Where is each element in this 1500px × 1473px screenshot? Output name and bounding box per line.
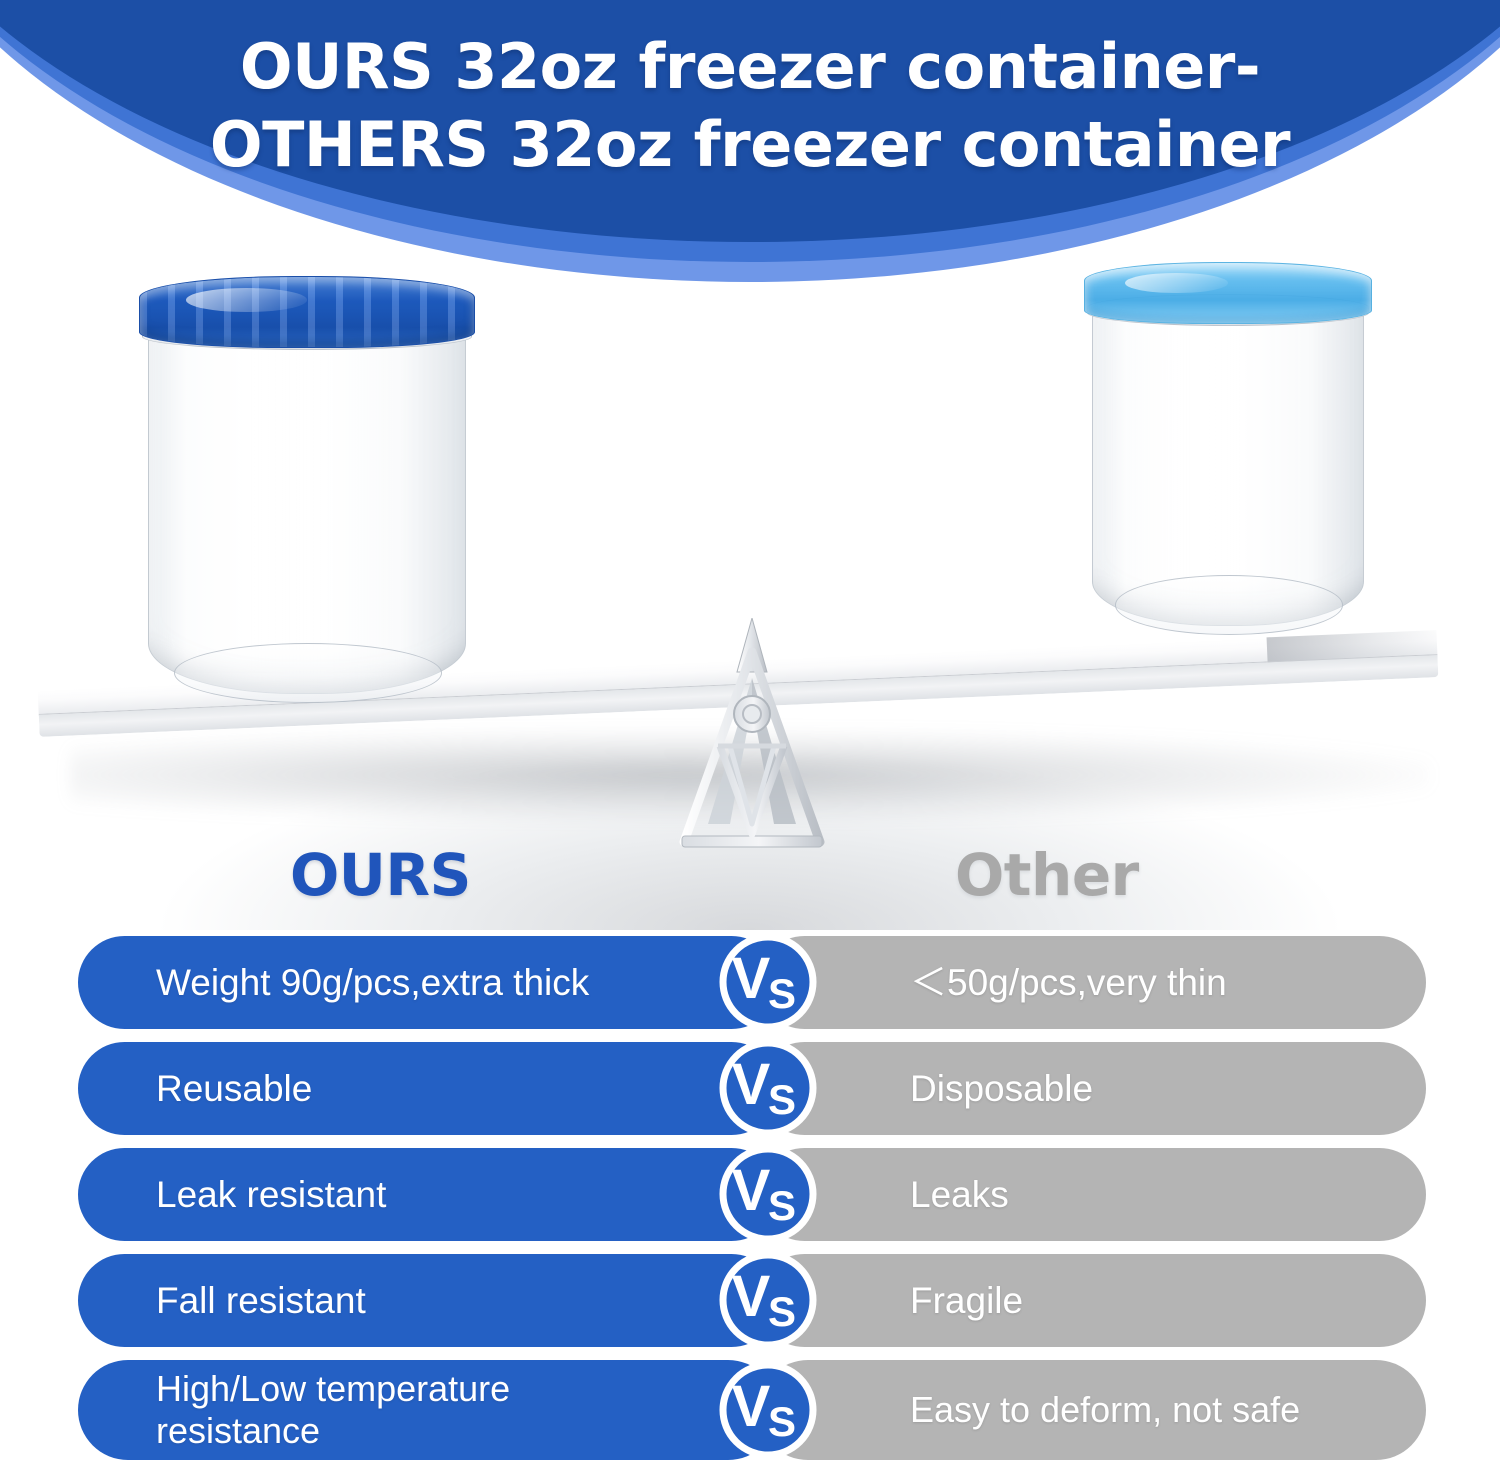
- other-container-base: [1115, 575, 1344, 635]
- column-heading-other: Other: [955, 844, 1139, 906]
- row-ours-text: Fall resistant: [156, 1279, 366, 1323]
- row-ours-text: Leak resistant: [156, 1173, 386, 1217]
- row-ours-text: Reusable: [156, 1067, 312, 1111]
- ours-container-base: [174, 643, 441, 703]
- svg-text:S: S: [768, 970, 796, 1017]
- row-other-pill[interactable]: Leaks: [758, 1148, 1426, 1241]
- table-row: Fall resistant Fragile V S: [0, 1254, 1500, 1347]
- vs-icon: V S: [718, 1038, 818, 1138]
- vs-icon: V S: [718, 1250, 818, 1350]
- row-other-text: Fragile: [910, 1279, 1023, 1323]
- table-row: Leak resistant Leaks V S: [0, 1148, 1500, 1241]
- row-ours-pill[interactable]: Reusable: [78, 1042, 778, 1135]
- row-other-text: Leaks: [910, 1173, 1009, 1217]
- svg-text:S: S: [768, 1076, 796, 1123]
- row-ours-text: High/Low temperature resistance: [156, 1368, 660, 1452]
- comparison-table: Weight 90g/pcs,extra thick ＜50g/pcs,very…: [0, 936, 1500, 1473]
- ours-container: [148, 332, 464, 692]
- column-heading-ours: OURS: [290, 844, 471, 906]
- vs-icon: V S: [718, 932, 818, 1032]
- banner-title-line-1: OURS 32oz freezer container-: [240, 28, 1260, 106]
- row-other-pill[interactable]: Disposable: [758, 1042, 1426, 1135]
- row-ours-pill[interactable]: Weight 90g/pcs,extra thick: [78, 936, 778, 1029]
- row-other-pill[interactable]: Easy to deform, not safe: [758, 1360, 1426, 1460]
- svg-text:V: V: [732, 1158, 771, 1223]
- row-other-text: Disposable: [910, 1067, 1093, 1111]
- column-headings: OURS Other: [0, 836, 1500, 928]
- seesaw-fulcrum: [672, 618, 832, 864]
- svg-text:S: S: [768, 1288, 796, 1335]
- row-ours-pill[interactable]: Leak resistant: [78, 1148, 778, 1241]
- banner-title-line-2: OTHERS 32oz freezer container: [210, 106, 1290, 184]
- other-container-body: [1092, 308, 1364, 626]
- svg-text:S: S: [768, 1398, 796, 1445]
- row-other-text: ＜50g/pcs,very thin: [910, 961, 1227, 1005]
- row-ours-pill[interactable]: Fall resistant: [78, 1254, 778, 1347]
- vs-icon: V S: [718, 1144, 818, 1244]
- ours-lid-highlight: [186, 288, 307, 312]
- other-container: [1092, 308, 1362, 624]
- svg-text:V: V: [732, 1374, 771, 1439]
- hero-stage: [0, 230, 1500, 930]
- svg-text:V: V: [732, 946, 771, 1011]
- row-other-pill[interactable]: ＜50g/pcs,very thin: [758, 936, 1426, 1029]
- table-row: Reusable Disposable V S: [0, 1042, 1500, 1135]
- row-ours-pill[interactable]: High/Low temperature resistance: [78, 1360, 778, 1460]
- vs-icon: V S: [718, 1360, 818, 1460]
- table-row: High/Low temperature resistance Easy to …: [0, 1360, 1500, 1460]
- header-banner: OURS 32oz freezer container- OTHERS 32oz…: [0, 0, 1500, 290]
- svg-text:V: V: [732, 1264, 771, 1329]
- banner-title: OURS 32oz freezer container- OTHERS 32oz…: [0, 0, 1500, 230]
- svg-text:S: S: [768, 1182, 796, 1229]
- table-row: Weight 90g/pcs,extra thick ＜50g/pcs,very…: [0, 936, 1500, 1029]
- row-other-pill[interactable]: Fragile: [758, 1254, 1426, 1347]
- ours-container-body: [148, 332, 466, 694]
- svg-text:V: V: [732, 1052, 771, 1117]
- row-ours-text: Weight 90g/pcs,extra thick: [156, 961, 589, 1005]
- row-other-text: Easy to deform, not safe: [910, 1389, 1300, 1431]
